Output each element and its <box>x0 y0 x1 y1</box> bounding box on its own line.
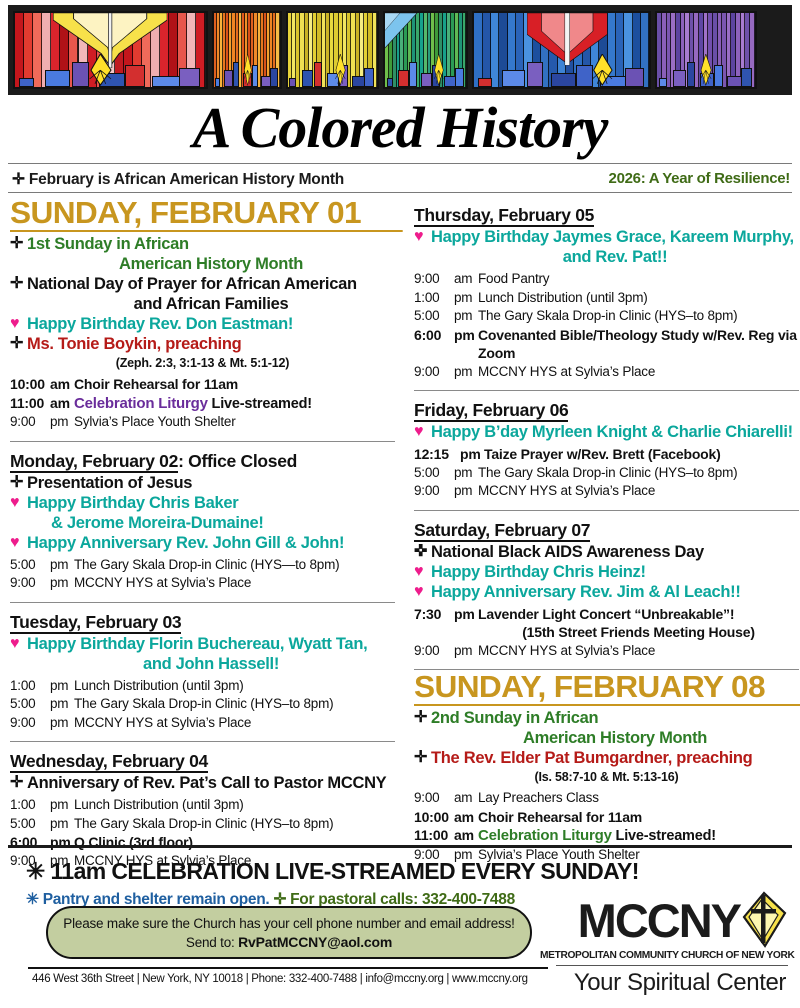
skyline-block <box>364 68 374 87</box>
day-note: ♥Happy Anniversary Rev. John Gill & John… <box>10 533 395 553</box>
day-heading: Friday, February 06 <box>414 400 799 421</box>
skyline-block <box>741 68 752 87</box>
schedule-description: The Gary Skala Drop-in Clinic (HYS–to 8p… <box>74 815 395 834</box>
skyline-block <box>45 70 70 87</box>
schedule-row: 6:00pmCovenanted Bible/Theology Study w/… <box>414 326 799 363</box>
day-heading: Wednesday, February 04 <box>10 751 395 772</box>
heart-icon: ♥ <box>10 493 27 513</box>
schedule-meridiem: pm <box>50 556 74 575</box>
schedule-description: Lunch Distribution (until 3pm) <box>74 796 395 815</box>
sunday-heading: SUNDAY, FEBRUARY 01 <box>10 196 403 232</box>
schedule-meridiem: am <box>454 270 478 289</box>
day-note-text-line2: & Jerome Moreira-Dumaine! <box>27 513 395 533</box>
schedule-row: 1:00pmLunch Distribution (until 3pm) <box>414 289 799 308</box>
cross-icon: ✛ <box>414 708 431 728</box>
page-title: A Colored History <box>0 96 800 160</box>
livestream-label: Live-streamed! <box>612 828 716 844</box>
schedule-description: MCCNY HYS at Sylvia’s Place <box>478 363 799 382</box>
day-note: ✛Anniversary of Rev. Pat’s Call to Pasto… <box>10 773 395 793</box>
cross-icon: ✛ <box>10 473 27 493</box>
footer-livestream-line: ✳ 11am CELEBRATION LIVE-STREAMED EVERY S… <box>26 858 792 885</box>
cross-icon: ✛ <box>414 748 431 768</box>
skyline-block <box>673 70 686 87</box>
cross-icon: ✛ <box>10 334 27 354</box>
celebration-liturgy-label: Celebration Liturgy <box>74 395 208 412</box>
day-note-text-line2: American History Month <box>431 728 799 748</box>
sunday-heading: SUNDAY, FEBRUARY 08 <box>414 670 800 706</box>
schedule-meridiem: pm <box>50 815 74 834</box>
skyline-block <box>527 62 543 87</box>
schedule-description: Taize Prayer w/Rev. Brett (Facebook) <box>484 445 799 464</box>
day-note: ♥Happy Birthday Chris Heinz! <box>414 562 799 582</box>
schedule-time: 1:00 <box>10 677 50 696</box>
schedule-time: 11:00 <box>414 826 454 846</box>
schedule-meridiem: pm <box>454 482 478 501</box>
skyline-block <box>387 78 394 87</box>
schedule-description: Lay Preachers Class <box>478 789 799 808</box>
day-note: ♥Happy Birthday Jaymes Grace, Kareem Mur… <box>414 227 799 267</box>
day-note: ♥Happy Birthday Chris Baker& Jerome More… <box>10 493 395 533</box>
skyline-block <box>625 68 644 87</box>
heart-icon: ♥ <box>10 533 27 553</box>
day-note-text: Happy Anniversary Rev. Jim & Al Leach!! <box>431 582 799 602</box>
schedule-row: 5:00pmThe Gary Skala Drop-in Clinic (HYS… <box>414 307 799 326</box>
schedule-row: 1:00pmLunch Distribution (until 3pm) <box>10 677 395 696</box>
glass-panel-3 <box>286 11 379 89</box>
contact-notice-line1: Please make sure the Church has your cel… <box>63 914 514 933</box>
day-note-text: Ms. Tonie Boykin, preaching <box>27 334 395 354</box>
schedule-description: Celebration Liturgy Live-streamed! <box>74 394 395 414</box>
schedule-time: 9:00 <box>10 574 50 593</box>
day-note-text: Happy Birthday Florin Buchereau, Wyatt T… <box>27 634 395 674</box>
heart-icon: ♥ <box>414 582 431 602</box>
calendar-column-left: SUNDAY, FEBRUARY 01✛1st Sunday in Africa… <box>10 196 395 870</box>
logo-wordmark: MCCNY <box>578 897 740 944</box>
subhead-right-label: 2026: A Year of Resilience! <box>609 170 790 187</box>
schedule-time: 5:00 <box>414 464 454 483</box>
schedule-row: 9:00pmMCCNY HYS at Sylvia’s Place <box>10 574 395 593</box>
skyline-block <box>215 78 220 87</box>
schedule-meridiem: pm <box>50 796 74 815</box>
schedule-description: Covenanted Bible/Theology Study w/Rev. R… <box>478 326 799 363</box>
schedule-description: Sylvia’s Place Youth Shelter <box>74 413 395 432</box>
celebration-liturgy-label: Celebration Liturgy <box>478 827 612 844</box>
schedule-time: 1:00 <box>414 289 454 308</box>
schedule-time: 9:00 <box>10 413 50 432</box>
day-heading-date: Wednesday, February 04 <box>10 751 208 773</box>
schedule-time: 12:15 <box>414 445 460 464</box>
schedule-description: Food Pantry <box>478 270 799 289</box>
day-note-text: Presentation of Jesus <box>27 473 395 493</box>
schedule-time: 11:00 <box>10 394 50 414</box>
day-note: ✛2nd Sunday in AfricanAmerican History M… <box>414 708 799 748</box>
schedule-time: 5:00 <box>10 695 50 714</box>
skyline-block <box>270 68 277 87</box>
schedule-description: MCCNY HYS at Sylvia’s Place <box>478 482 799 501</box>
schedule-time: 5:00 <box>10 815 50 834</box>
schedule-description: MCCNY HYS at Sylvia’s Place <box>74 574 395 593</box>
masthead: A Colored History <box>0 96 800 160</box>
masthead-rule <box>8 163 792 164</box>
day-note-text-line2: and John Hassell! <box>27 654 395 674</box>
day-note: ✛Ms. Tonie Boykin, preaching <box>10 334 395 354</box>
day-note-text: 2nd Sunday in AfricanAmerican History Mo… <box>431 708 799 748</box>
skyline-block <box>502 70 525 87</box>
day-note-text-line2: and Rev. Pat!! <box>431 247 799 267</box>
glass-panel-1 <box>13 11 208 89</box>
subhead-left-label: February is African American History Mon… <box>29 171 344 188</box>
heart-icon: ♥ <box>10 314 27 334</box>
schedule-description: Lunch Distribution (until 3pm) <box>74 677 395 696</box>
footer-top-rule <box>8 845 792 848</box>
schedule-time: 9:00 <box>414 642 454 661</box>
day-note-text-line2: and African Families <box>27 294 395 314</box>
schedule-row: 9:00pmMCCNY HYS at Sylvia’s Place <box>10 714 395 733</box>
skyline-block <box>687 62 696 87</box>
schedule-description: MCCNY HYS at Sylvia’s Place <box>478 642 799 661</box>
schedule-meridiem: am <box>50 375 74 394</box>
schedule-row: 5:00pmThe Gary Skala Drop-in Clinic (HYS… <box>10 815 395 834</box>
email-address[interactable]: RvPatMCCNY@aol.com <box>238 934 392 950</box>
cross-icon: ✛ <box>10 773 27 793</box>
stained-glass-banner <box>8 5 792 95</box>
schedule-description: MCCNY HYS at Sylvia’s Place <box>74 714 395 733</box>
schedule-row: 5:00pmThe Gary Skala Drop-in Clinic (HYS… <box>10 695 395 714</box>
day-note: ✜National Black AIDS Awareness Day <box>414 542 799 562</box>
schedule-time: 10:00 <box>10 375 50 394</box>
schedule-time: 9:00 <box>414 363 454 382</box>
schedule-row: 9:00pmMCCNY HYS at Sylvia’s Place <box>414 642 799 661</box>
newsletter-page: A Colored History ✛ February is African … <box>0 0 800 1008</box>
glass-panel-5 <box>472 11 651 89</box>
day-heading-date: Tuesday, February 03 <box>10 612 181 634</box>
schedule-meridiem: pm <box>50 574 74 593</box>
day-heading-date: Friday, February 06 <box>414 400 568 422</box>
day-note-text: Happy B’day Myrleen Knight & Charlie Chi… <box>431 422 799 442</box>
skyline-block <box>551 73 575 87</box>
heart-icon: ♥ <box>414 562 431 582</box>
skyline-block <box>179 68 200 87</box>
schedule-time: 10:00 <box>414 808 454 827</box>
schedule-meridiem: pm <box>50 677 74 696</box>
mccny-logo: MCCNY METROPOLITAN COMMUNITY CHURCH OF N… <box>540 891 788 997</box>
schedule-meridiem: pm <box>454 464 478 483</box>
day-note: ♥Happy Birthday Rev. Don Eastman! <box>10 314 395 334</box>
glass-panel-4 <box>383 11 469 89</box>
schedule-description: The Gary Skala Drop-in Clinic (HYS–to 8p… <box>478 464 799 483</box>
schedule-time: 9:00 <box>414 482 454 501</box>
cross-icon: ✛ <box>10 234 27 254</box>
schedule-meridiem: am <box>50 394 74 414</box>
schedule-row: 9:00pmMCCNY HYS at Sylvia’s Place <box>414 363 799 382</box>
asterisk-icon-2: ✳ <box>26 891 39 908</box>
schedule-meridiem: pm <box>460 445 484 464</box>
skyline-block <box>478 78 492 87</box>
skyline-block <box>352 76 365 87</box>
skyline-block <box>444 76 456 87</box>
livestream-label: Live-streamed! <box>208 396 312 412</box>
schedule-meridiem: pm <box>454 307 478 326</box>
contact-notice-pill: Please make sure the Church has your cel… <box>46 906 532 959</box>
skyline-block <box>224 70 233 87</box>
schedule-meridiem: am <box>454 789 478 808</box>
day-separator <box>10 441 395 442</box>
schedule-meridiem: pm <box>50 714 74 733</box>
day-note-text-line2: American History Month <box>27 254 395 274</box>
footer: ✳ 11am CELEBRATION LIVE-STREAMED EVERY S… <box>8 849 792 1001</box>
cross-icon: ✜ <box>414 542 431 562</box>
day-heading-date: Thursday, February 05 <box>414 205 594 227</box>
day-note: ✛1st Sunday in AfricanAmerican History M… <box>10 234 395 274</box>
schedule-row: 9:00amFood Pantry <box>414 270 799 289</box>
day-note-text: Happy Birthday Rev. Don Eastman! <box>27 314 395 334</box>
skyline-block <box>714 65 724 87</box>
day-note-text: Happy Birthday Chris Baker& Jerome Morei… <box>27 493 395 533</box>
logo-main-row: MCCNY <box>540 891 788 949</box>
schedule-row: 5:00pmThe Gary Skala Drop-in Clinic (HYS… <box>10 556 395 575</box>
day-note-text: The Rev. Elder Pat Bumgardner, preaching <box>431 748 799 768</box>
subhead-bar: ✛ February is African American History M… <box>8 170 792 190</box>
schedule-meridiem: pm <box>454 289 478 308</box>
skyline-block <box>455 68 464 87</box>
heart-icon: ♥ <box>414 227 431 247</box>
schedule-description: Choir Rehearsal for 11am <box>478 808 799 827</box>
skyline-block <box>314 62 322 87</box>
scripture-reference: (Is. 58:7-10 & Mt. 5:13-16) <box>414 769 799 785</box>
skyline-block <box>252 65 259 87</box>
subhead-rule <box>8 192 792 193</box>
schedule-meridiem: pm <box>454 326 478 363</box>
calendar-columns: SUNDAY, FEBRUARY 01✛1st Sunday in Africa… <box>8 196 792 841</box>
skyline-block <box>233 62 239 87</box>
day-separator <box>10 741 395 742</box>
schedule-time: 5:00 <box>10 556 50 575</box>
schedule-meridiem: am <box>454 826 478 846</box>
asterisk-icon: ✳ <box>26 858 45 884</box>
calendar-column-right: Thursday, February 05♥Happy Birthday Jay… <box>414 196 799 864</box>
day-note: ✛Presentation of Jesus <box>10 473 395 493</box>
skyline-block <box>409 62 416 87</box>
schedule-description: The Gary Skala Drop-in Clinic (HYS—to 8p… <box>74 556 395 575</box>
day-heading-date: Monday, February 02 <box>10 451 178 473</box>
schedule-row: 7:30pmLavender Light Concert “Unbreakabl… <box>414 605 799 642</box>
schedule-meridiem: pm <box>50 695 74 714</box>
schedule-time: 6:00 <box>414 326 454 363</box>
schedule-description: Celebration Liturgy Live-streamed! <box>478 826 799 846</box>
day-heading: Tuesday, February 03 <box>10 612 395 633</box>
schedule-description-sub: (15th Street Friends Meeting House) <box>478 623 799 642</box>
scripture-reference: (Zeph. 2:3, 3:1-13 & Mt. 5:1-12) <box>10 355 395 371</box>
skyline-block <box>302 70 314 87</box>
schedule-row: 9:00pmSylvia’s Place Youth Shelter <box>10 413 395 432</box>
skyline-block <box>659 78 667 87</box>
schedule-row: 10:00amChoir Rehearsal for 11am <box>414 808 799 827</box>
schedule-row: 12:15pmTaize Prayer w/Rev. Brett (Facebo… <box>414 445 799 464</box>
schedule-description: Lunch Distribution (until 3pm) <box>478 289 799 308</box>
day-note: ♥Happy Birthday Florin Buchereau, Wyatt … <box>10 634 395 674</box>
schedule-time: 7:30 <box>414 605 454 642</box>
schedule-row: 9:00amLay Preachers Class <box>414 789 799 808</box>
footer-livestream-label: 11am CELEBRATION LIVE-STREAMED EVERY SUN… <box>50 858 638 884</box>
schedule-time: 1:00 <box>10 796 50 815</box>
schedule-row: 1:00pmLunch Distribution (until 3pm) <box>10 796 395 815</box>
schedule-description: The Gary Skala Drop-in Clinic (HYS–to 8p… <box>74 695 395 714</box>
cross-icon: ✛ <box>10 274 27 294</box>
schedule-meridiem: am <box>454 808 478 827</box>
subhead-left: ✛ February is African American History M… <box>12 170 344 189</box>
footer-address: 446 West 36th Street | New York, NY 1001… <box>32 973 528 985</box>
day-heading-date: Saturday, February 07 <box>414 520 590 542</box>
day-note: ✛The Rev. Elder Pat Bumgardner, preachin… <box>414 748 799 768</box>
day-note: ♥Happy Anniversary Rev. Jim & Al Leach!! <box>414 582 799 602</box>
day-note: ♥Happy B’day Myrleen Knight & Charlie Ch… <box>414 422 799 442</box>
logo-divider <box>556 965 788 966</box>
day-separator <box>10 602 395 603</box>
day-separator <box>414 510 799 511</box>
day-note-text: National Black AIDS Awareness Day <box>431 542 799 562</box>
day-heading: Thursday, February 05 <box>414 205 799 226</box>
skyline-block <box>421 73 432 87</box>
skyline-block <box>398 70 409 87</box>
day-note-text: Anniversary of Rev. Pat’s Call to Pastor… <box>27 773 395 793</box>
glass-panel-6 <box>655 11 756 89</box>
schedule-row: 9:00pmMCCNY HYS at Sylvia’s Place <box>414 482 799 501</box>
day-note: ✛National Day of Prayer for African Amer… <box>10 274 395 314</box>
heart-icon: ♥ <box>414 422 431 442</box>
logo-tagline: Your Spiritual Center <box>540 969 788 997</box>
day-heading: Monday, February 02: Office Closed <box>10 451 395 472</box>
contact-notice-line2: Send to: RvPatMCCNY@aol.com <box>186 933 392 952</box>
day-note-text: Happy Birthday Jaymes Grace, Kareem Murp… <box>431 227 799 267</box>
flame-cross-icon <box>738 891 788 949</box>
day-note-text: National Day of Prayer for African Ameri… <box>27 274 395 314</box>
day-separator <box>414 390 799 391</box>
heart-icon: ♥ <box>10 634 27 654</box>
glass-panel-2 <box>212 11 282 89</box>
skyline-block <box>125 65 144 87</box>
schedule-meridiem: pm <box>454 363 478 382</box>
send-to-label: Send to: <box>186 935 238 950</box>
schedule-row: 5:00pmThe Gary Skala Drop-in Clinic (HYS… <box>414 464 799 483</box>
schedule-time: 9:00 <box>414 270 454 289</box>
logo-subtitle: METROPOLITAN COMMUNITY CHURCH OF NEW YOR… <box>540 950 788 961</box>
skyline-block <box>19 78 34 87</box>
skyline-block <box>727 76 742 87</box>
schedule-description: Choir Rehearsal for 11am <box>74 375 395 394</box>
skyline-block <box>289 78 296 87</box>
schedule-description: Lavender Light Concert “Unbreakable”!(15… <box>478 605 799 642</box>
day-note-text: 1st Sunday in AfricanAmerican History Mo… <box>27 234 395 274</box>
schedule-time: 5:00 <box>414 307 454 326</box>
skyline-block <box>152 76 181 87</box>
schedule-time: 9:00 <box>414 789 454 808</box>
schedule-meridiem: pm <box>454 642 478 661</box>
schedule-time: 9:00 <box>10 714 50 733</box>
schedule-description: The Gary Skala Drop-in Clinic (HYS–to 8p… <box>478 307 799 326</box>
schedule-row: 11:00amCelebration Liturgy Live-streamed… <box>10 394 395 414</box>
schedule-row: 10:00amChoir Rehearsal for 11am <box>10 375 395 394</box>
cross-icon: ✛ <box>12 171 25 188</box>
schedule-meridiem: pm <box>50 413 74 432</box>
day-note-text: Happy Birthday Chris Heinz! <box>431 562 799 582</box>
schedule-row: 11:00amCelebration Liturgy Live-streamed… <box>414 826 799 846</box>
footer-address-rule <box>28 967 548 969</box>
day-note-text: Happy Anniversary Rev. John Gill & John! <box>27 533 395 553</box>
schedule-meridiem: pm <box>454 605 478 642</box>
day-heading-suffix: : Office Closed <box>178 451 297 471</box>
day-heading: Saturday, February 07 <box>414 520 799 541</box>
